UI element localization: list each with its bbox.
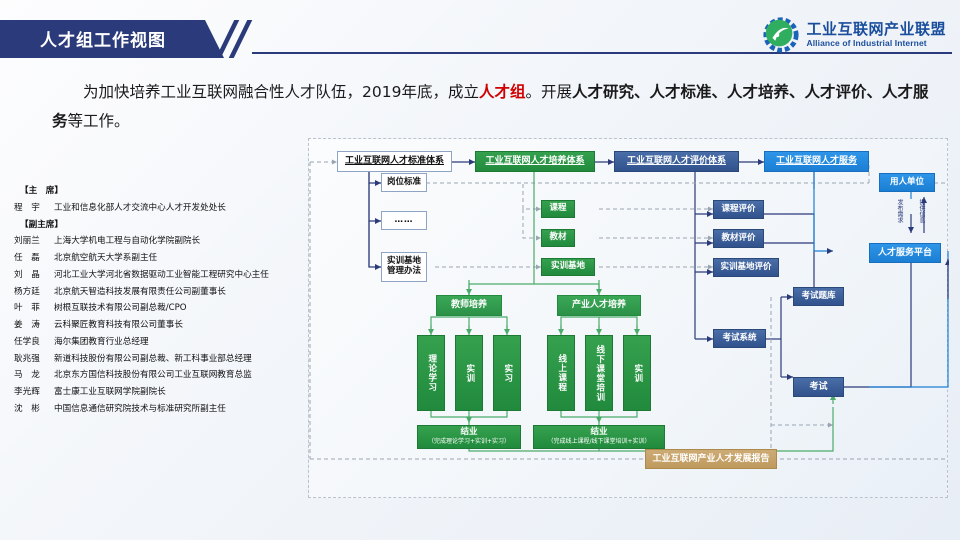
- node-evaluation-system[interactable]: 工业互联网人才评价体系: [614, 151, 739, 172]
- node-course[interactable]: 课程: [541, 200, 575, 218]
- node-completion-industry[interactable]: 结业 （完成线上课程/线下课堂培训+实训）: [533, 425, 665, 449]
- roster-title: 北京航空航天大学系副主任: [54, 253, 157, 263]
- list-item: 杨方廷北京航天智造科技发展有限责任公司副董事长: [14, 284, 306, 301]
- roster-title: 海尔集团教育行业总经理: [54, 337, 149, 347]
- completion-note: （完成理论学习+实训+实习）: [428, 439, 510, 446]
- list-item: 李光辉富士康工业互联网学院副院长: [14, 384, 306, 401]
- roster-name: 沈 彬: [14, 401, 54, 418]
- intro-highlight: 人才组: [479, 83, 526, 101]
- list-item: 姜 涛云科聚匠教育科技有限公司董事长: [14, 317, 306, 334]
- intro-text-1: 为加快培养工业互联网融合性人才队伍，2019年底，成立: [83, 83, 479, 101]
- node-post-standard[interactable]: 岗位标准: [381, 173, 427, 192]
- roster-name: 任 磊: [14, 250, 54, 267]
- roster-name: 刘丽兰: [14, 233, 54, 250]
- list-item: 刘丽兰上海大学机电工程与自动化学院副院长: [14, 233, 306, 250]
- node-completion-teacher[interactable]: 结业 （完成理论学习+实训+实习）: [417, 425, 521, 449]
- node-industry-talent-training[interactable]: 产业人才培养: [557, 295, 641, 316]
- roster-title: 新道科技股份有限公司副总裁、新工科事业部总经理: [54, 354, 252, 364]
- roster-name: 马 龙: [14, 367, 54, 384]
- list-item: 叶 菲树根互联技术有限公司副总裁/CPO: [14, 300, 306, 317]
- node-step-practice-2[interactable]: 实训: [623, 335, 651, 411]
- edge-label-publish-demand: 发布需求: [895, 199, 904, 223]
- list-item: 沈 彬中国信息通信研究院技术与标准研究所副主任: [14, 401, 306, 418]
- roster-name: 杨方廷: [14, 284, 54, 301]
- intro-text-2: 。开展: [525, 83, 572, 101]
- node-step-practice[interactable]: 实训: [455, 335, 483, 411]
- node-step-offline-class[interactable]: 线下课堂培训: [585, 335, 613, 411]
- node-teacher-training[interactable]: 教师培养: [436, 295, 502, 316]
- node-service-platform[interactable]: 人才服务平台: [869, 243, 941, 263]
- node-standard-system[interactable]: 工业互联网人才标准体系: [337, 151, 452, 172]
- roster-title: 上海大学机电工程与自动化学院副院长: [54, 236, 200, 246]
- node-talent-report[interactable]: 工业互联网产业人才发展报告: [645, 449, 777, 469]
- list-item: 马 龙北京东方国信科技股份有限公司工业互联网教育总监: [14, 367, 306, 384]
- list-item: 耿兆强新道科技股份有限公司副总裁、新工科事业部总经理: [14, 351, 306, 368]
- roster-name: 程 宇: [14, 200, 54, 217]
- node-base-eval[interactable]: 实训基地评价: [713, 258, 779, 277]
- roster-vice-heading: 【副主席】: [14, 217, 306, 234]
- completion-note: （完成线上课程/线下课堂培训+实训）: [547, 439, 650, 446]
- roster-title: 中国信息通信研究院技术与标准研究所副主任: [54, 404, 226, 414]
- gear-logo-icon: [762, 16, 800, 54]
- roster-title: 富士康工业互联网学院副院长: [54, 387, 166, 397]
- node-training-system[interactable]: 工业互联网人才培养体系: [475, 151, 595, 172]
- roster-name: 李光辉: [14, 384, 54, 401]
- roster-name: 刘 晶: [14, 267, 54, 284]
- node-ellipsis-standard[interactable]: ……: [381, 211, 427, 230]
- roster-chair-heading: 【主 席】: [14, 183, 306, 200]
- roster-title: 云科聚匠教育科技有限公司董事长: [54, 320, 183, 330]
- node-training-base[interactable]: 实训基地: [541, 258, 595, 276]
- roster-title: 河北工业大学河北省数据驱动工业智能工程研究中心主任: [54, 270, 269, 280]
- logo-text-en: Alliance of Industrial Internet: [806, 38, 946, 48]
- roster-title: 北京航天智造科技发展有限责任公司副董事长: [54, 287, 226, 297]
- logo-text-cn: 工业互联网产业联盟: [806, 22, 946, 38]
- node-employer[interactable]: 用人单位: [879, 173, 935, 192]
- roster-name: 耿兆强: [14, 351, 54, 368]
- page-title: 人才组工作视图: [40, 26, 166, 51]
- node-textbook[interactable]: 教材: [541, 229, 575, 247]
- roster-title: 北京东方国信科技股份有限公司工业互联网教育总监: [54, 370, 252, 380]
- roster-title: 工业和信息化部人才交流中心人才开发处处长: [54, 203, 226, 213]
- roster-title: 树根互联技术有限公司副总裁/CPO: [54, 303, 187, 313]
- roster-name: 任学良: [14, 334, 54, 351]
- edge-label-provide-info: 提供信息: [917, 199, 926, 223]
- node-step-internship[interactable]: 实习: [493, 335, 521, 411]
- roster-name: 叶 菲: [14, 300, 54, 317]
- talent-workflow-diagram: 工业互联网人才标准体系 工业互联网人才培养体系 工业互联网人才评价体系 工业互联…: [308, 138, 948, 498]
- brand-logo: 工业互联网产业联盟 Alliance of Industrial Interne…: [762, 16, 946, 54]
- completion-title: 结业: [460, 428, 477, 438]
- node-base-management[interactable]: 实训基地管理办法: [381, 252, 427, 282]
- roster-list: 【主 席】 程 宇工业和信息化部人才交流中心人才开发处处长 【副主席】 刘丽兰上…: [14, 183, 306, 418]
- list-item: 任 磊北京航空航天大学系副主任: [14, 250, 306, 267]
- list-item: 任学良海尔集团教育行业总经理: [14, 334, 306, 351]
- completion-title: 结业: [590, 428, 607, 438]
- node-talent-service[interactable]: 工业互联网人才服务: [764, 151, 869, 172]
- list-item: 程 宇工业和信息化部人才交流中心人才开发处处长: [14, 200, 306, 217]
- intro-paragraph: 为加快培养工业互联网融合性人才队伍，2019年底，成立人才组。开展人才研究、人才…: [52, 78, 930, 135]
- node-course-eval[interactable]: 课程评价: [713, 200, 764, 219]
- intro-text-3: 等工作。: [68, 112, 130, 130]
- node-exam-system[interactable]: 考试系统: [713, 329, 766, 348]
- list-item: 刘 晶河北工业大学河北省数据驱动工业智能工程研究中心主任: [14, 267, 306, 284]
- roster-name: 姜 涛: [14, 317, 54, 334]
- node-textbook-eval[interactable]: 教材评价: [713, 229, 764, 248]
- node-exam[interactable]: 考试: [793, 377, 844, 397]
- node-step-theory[interactable]: 理论学习: [417, 335, 445, 411]
- node-step-online-course[interactable]: 线上课程: [547, 335, 575, 411]
- node-exam-bank[interactable]: 考试题库: [793, 287, 844, 306]
